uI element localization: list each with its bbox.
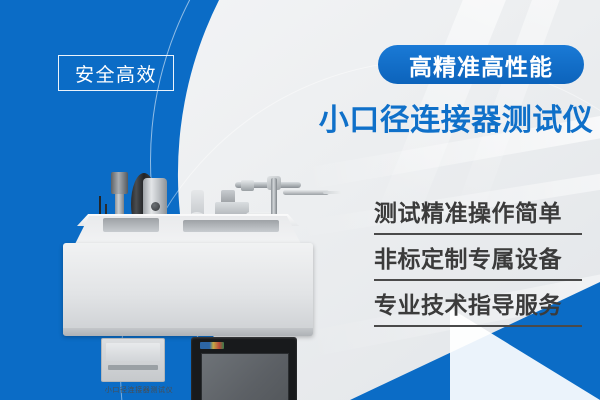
touchscreen-display [201,353,289,400]
printer-slot [101,338,165,382]
feature-label: 非标定制专属设备 [374,244,582,274]
feature-label: 测试精准操作简单 [374,198,582,228]
cabinet-recess-right [183,220,279,232]
probe-tip [323,191,341,194]
feature-list: 测试精准操作简单 非标定制专属设备 专业技术指导服务 [374,198,582,336]
cabinet-bottom-edge [63,328,313,336]
feature-divider [374,233,582,235]
feature-divider [374,325,582,327]
feature-item: 非标定制专属设备 [374,244,582,281]
product-headline: 小口径连接器测试仪 [330,96,582,138]
feature-item: 测试精准操作简单 [374,198,582,235]
lever-arm-knob [241,180,254,191]
touchscreen-bezel [191,337,297,400]
screen-brand-logo [200,342,224,349]
drum-hub [151,202,160,211]
product-photo: 小口径连接器测试仪 [55,168,320,363]
safety-efficiency-badge: 安全高效 [58,55,174,91]
feature-divider [374,279,582,281]
product-panel-label: 小口径连接器测试仪 [79,385,199,395]
product-banner: 安全高效 [0,0,600,400]
feature-label: 专业技术指导服务 [374,290,582,320]
cabinet-recess-left [103,218,159,232]
feature-item: 专业技术指导服务 [374,290,582,327]
cabinet-body: 小口径连接器测试仪 [63,243,313,335]
precision-performance-pill: 高精准高性能 [378,45,584,84]
post-head-clamp [111,172,128,194]
